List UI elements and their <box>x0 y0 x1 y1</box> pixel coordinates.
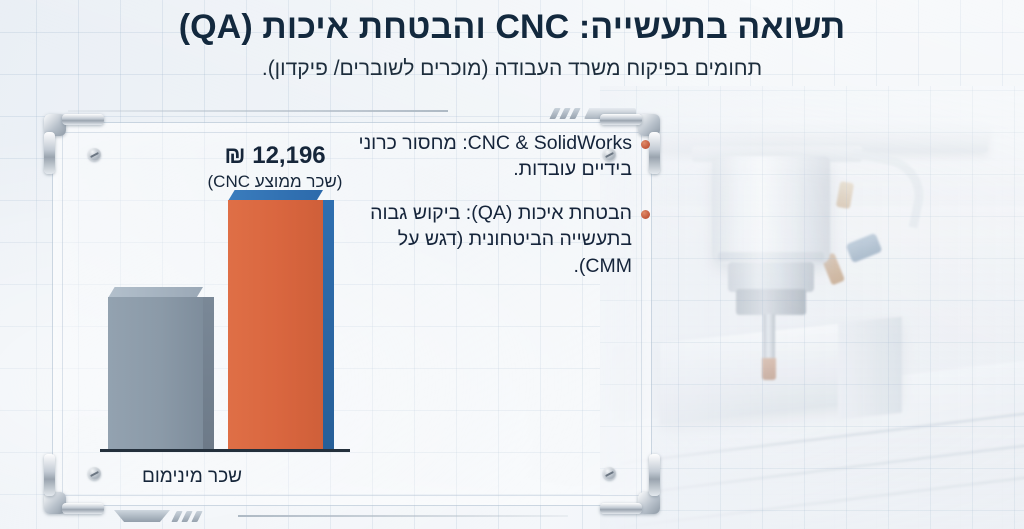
bar-side-face <box>203 297 214 449</box>
accent-slashes-bottom-left <box>174 511 200 522</box>
cnc-value-sublabel: (שכר ממוצע CNC) <box>170 172 380 192</box>
cnc-value-text: 12,196 ₪ <box>170 142 380 171</box>
list-item: CNC & SolidWorks: מחסור כרוני בידיים עוב… <box>350 130 650 182</box>
accent-slashes-top-right <box>552 108 578 119</box>
bullet-dot-icon <box>641 210 650 219</box>
bar-minimum-wage <box>108 297 203 449</box>
category-label-minimum-wage: שכר מינימום <box>92 466 292 488</box>
cnc-milling-machine-photo <box>600 86 1024 529</box>
bullet-text: הבטחת איכות (QA): ביקוש גבוה בתעשייה הבי… <box>350 200 632 278</box>
heading-block: תשואה בתעשייה: CNC והבטחת איכות (QA) תחו… <box>0 0 1024 81</box>
page-subtitle: תחומים בפיקוח משרד העבודה (מוכרים לשוברי… <box>0 56 1024 81</box>
bar-side-face <box>323 200 334 449</box>
bullet-dot-icon <box>641 140 650 149</box>
bullet-text: CNC & SolidWorks: מחסור כרוני בידיים עוב… <box>350 130 632 182</box>
page-title: תשואה בתעשייה: CNC והבטחת איכות (QA) <box>0 8 1024 46</box>
panel-accent-line-top <box>68 110 448 112</box>
panel-accent-line-bottom <box>238 515 568 517</box>
list-item: הבטחת איכות (QA): ביקוש גבוה בתעשייה הבי… <box>350 200 650 278</box>
chart-baseline-axis <box>100 449 350 452</box>
photo-grid-overlay <box>600 86 1024 529</box>
bullet-list: CNC & SolidWorks: מחסור כרוני בידיים עוב… <box>350 122 650 297</box>
cnc-value-annotation: 12,196 ₪ (שכר ממוצע CNC) <box>170 142 380 192</box>
bar-cnc-average-wage <box>228 200 323 449</box>
bar-front-face <box>108 297 203 449</box>
bar-front-face <box>228 200 323 449</box>
